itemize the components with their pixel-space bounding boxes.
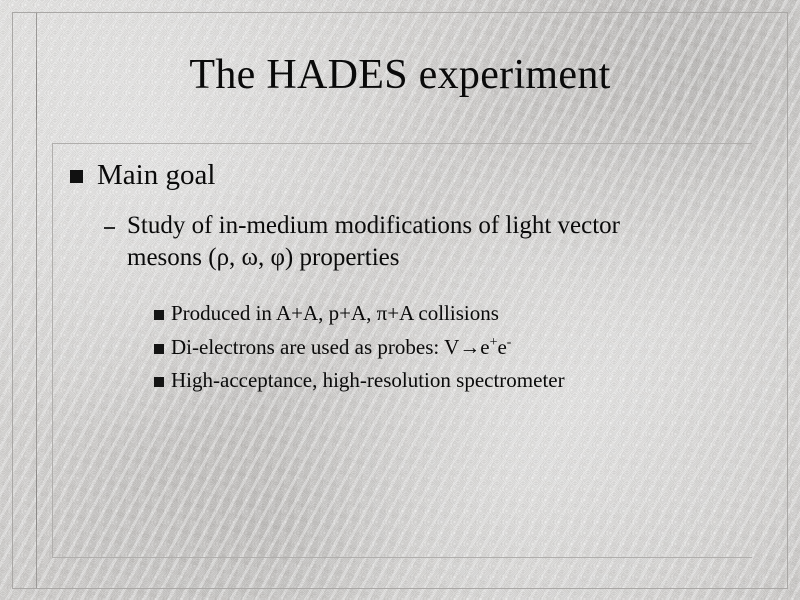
square-bullet-icon — [70, 170, 83, 183]
bullet-level1: Main goal — [70, 158, 760, 192]
square-bullet-icon — [154, 310, 164, 320]
frame-line-left-inner — [36, 12, 37, 588]
bullet-level3-item: Produced in A+A, p+A, π+A collisions — [154, 301, 760, 327]
frame-line-right — [787, 12, 788, 588]
bullet-level3-group: Produced in A+A, p+A, π+A collisions Di-… — [154, 301, 760, 394]
square-bullet-icon — [154, 377, 164, 387]
probes-prefix: Di-electrons are used as probes: V — [171, 335, 459, 359]
bullet-level3-item: Di-electrons are used as probes: V→e+e- — [154, 335, 760, 361]
bullet-level2-label: Study of in-medium modifications of ligh… — [127, 210, 687, 273]
bullet-level1-label: Main goal — [97, 158, 215, 192]
square-bullet-icon — [154, 344, 164, 354]
content-rule-top — [52, 143, 752, 144]
slide-title: The HADES experiment — [0, 52, 800, 98]
bullet-level3-label: High-acceptance, high-resolution spectro… — [171, 368, 565, 394]
right-arrow-icon: → — [459, 335, 480, 359]
bullet-level3-item: High-acceptance, high-resolution spectro… — [154, 368, 760, 394]
slide-body: Main goal Study of in-medium modificatio… — [70, 158, 760, 402]
frame-line-top — [12, 12, 788, 13]
probes-charge-minus: - — [507, 334, 512, 349]
bullet-level2: Study of in-medium modifications of ligh… — [104, 210, 760, 273]
frame-tick-lower — [36, 470, 37, 530]
bullet-level3-label: Produced in A+A, p+A, π+A collisions — [171, 301, 499, 327]
dash-bullet-icon — [104, 227, 115, 229]
bullet-level3-label-probes: Di-electrons are used as probes: V→e+e- — [171, 335, 511, 361]
content-rule-bottom — [52, 557, 752, 558]
slide-canvas: The HADES experiment Main goal Study of … — [0, 0, 800, 600]
frame-line-left-outer — [12, 12, 13, 588]
probes-electron-2: e — [497, 335, 506, 359]
frame-line-bottom — [12, 588, 788, 589]
probes-electron-1: e — [480, 335, 489, 359]
content-rule-vertical — [52, 143, 53, 558]
